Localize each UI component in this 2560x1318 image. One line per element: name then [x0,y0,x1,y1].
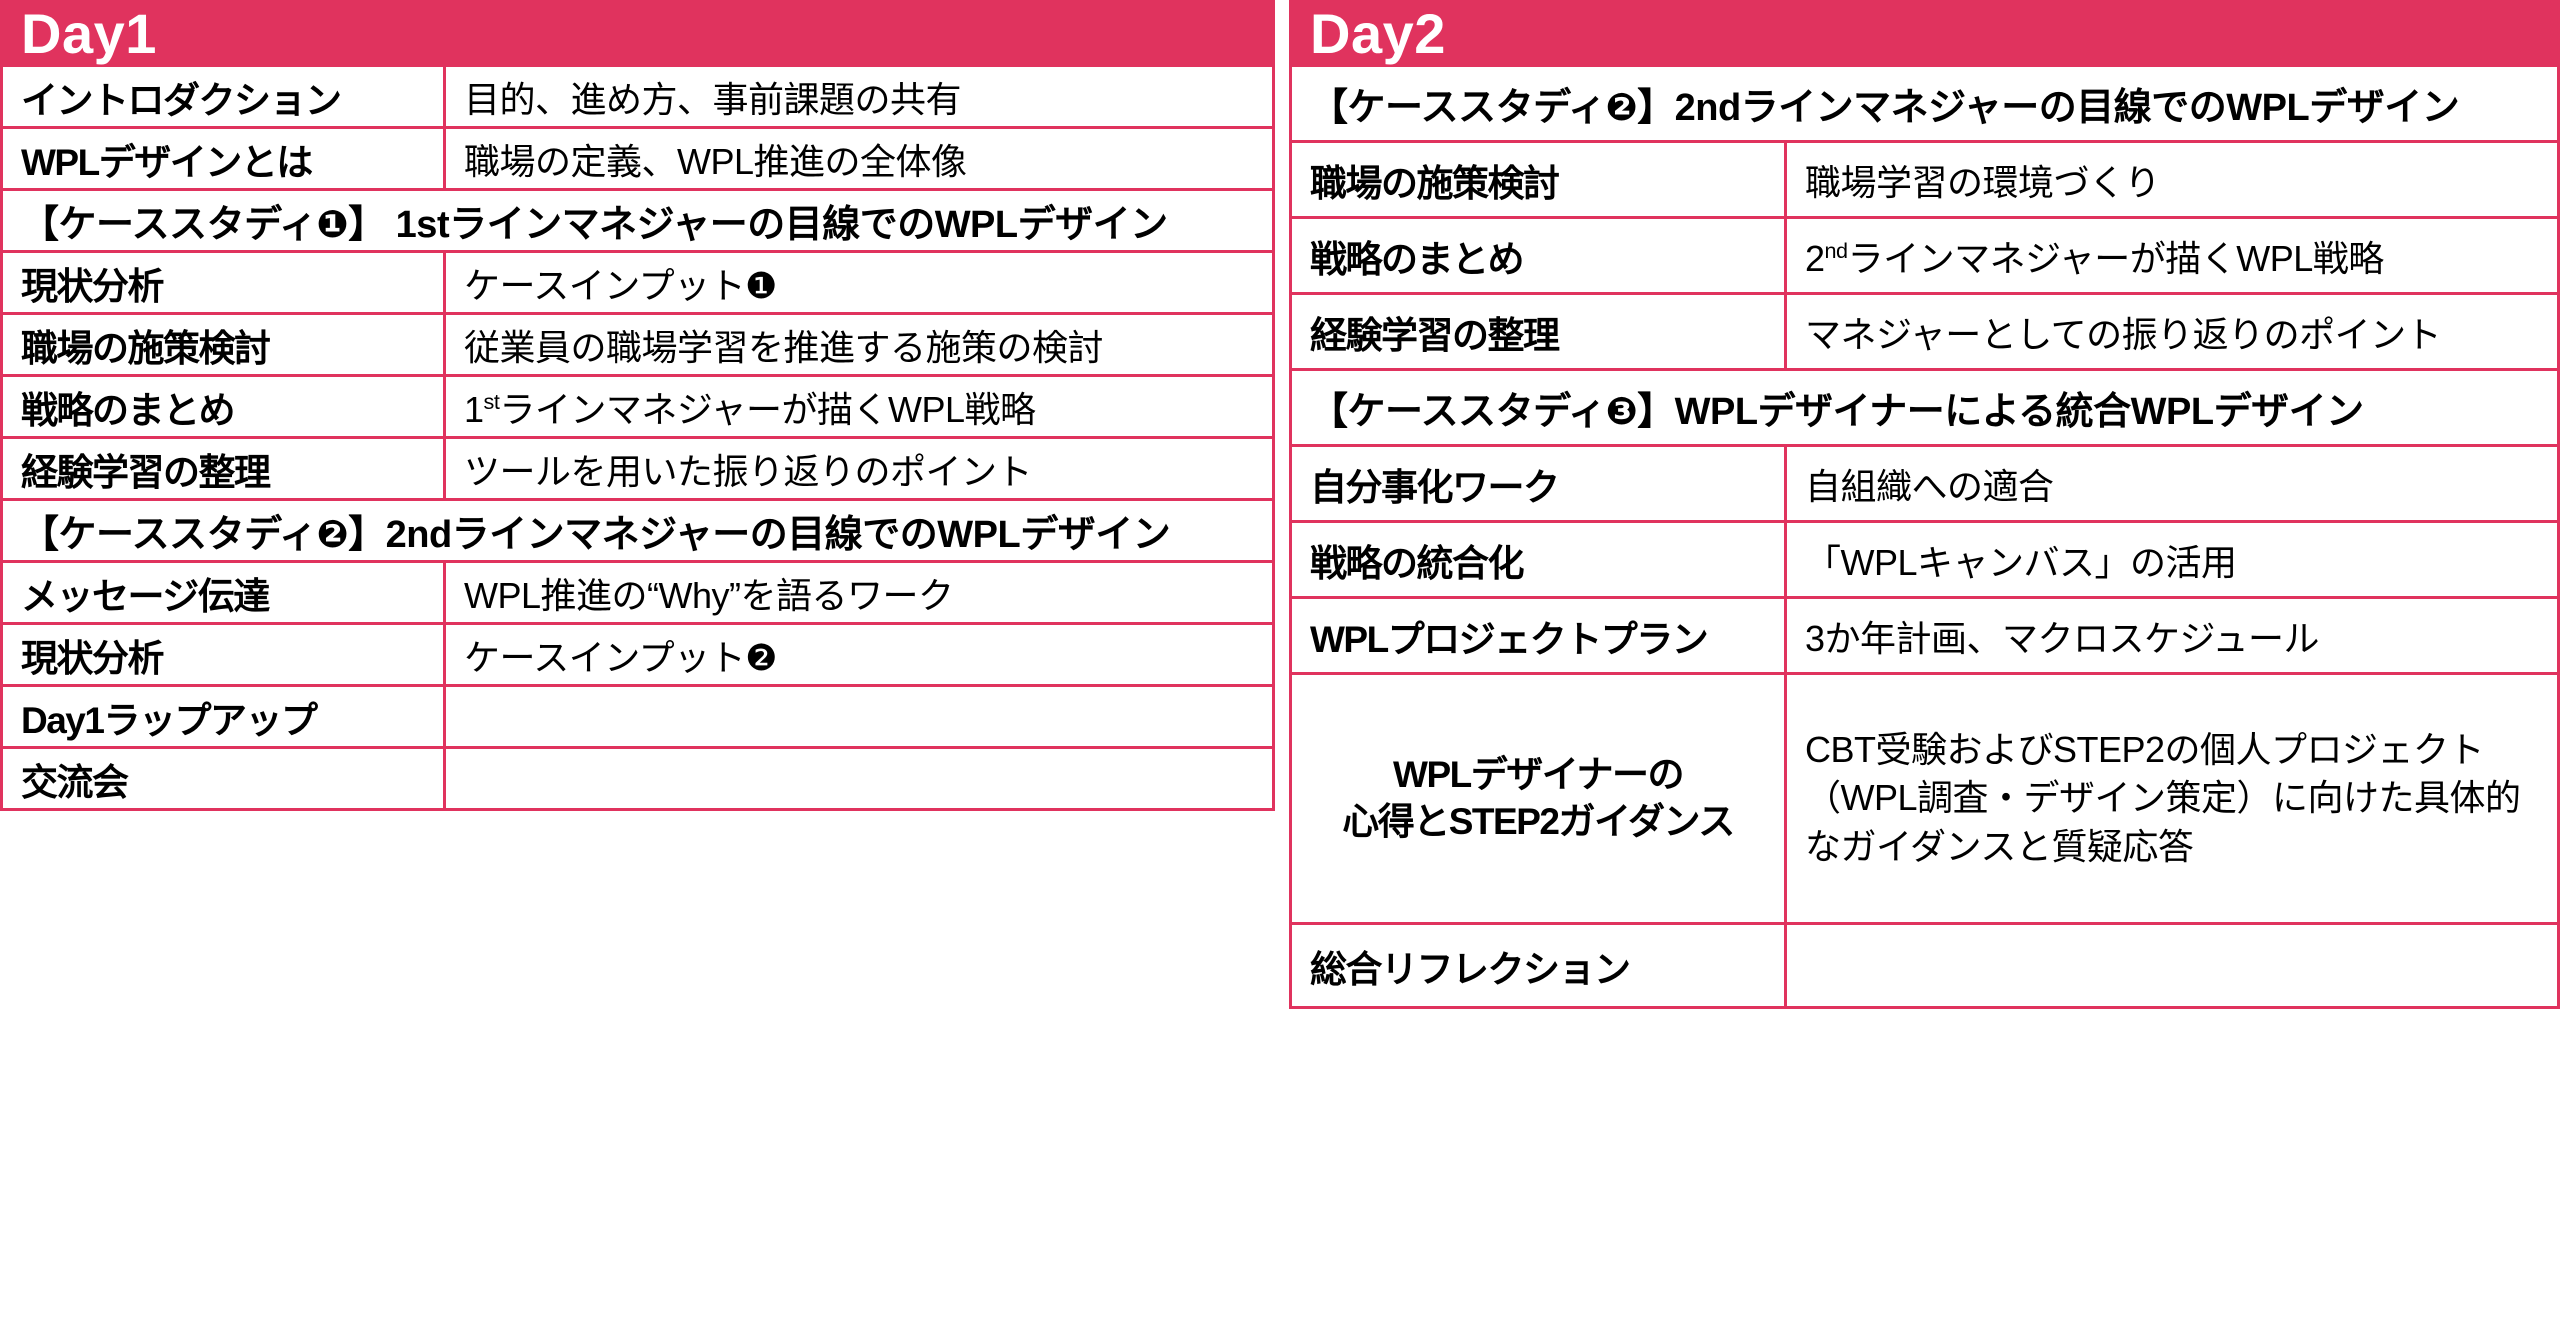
row-topic: WPLデザインとは [2,128,445,190]
table-row: WPLデザイナーの心得とSTEP2ガイダンス CBT受験およびSTEP2の個人プ… [1291,674,2559,924]
table-row: WPLデザインとは 職場の定義、WPL推進の全体像 [2,128,1274,190]
row-desc: WPL推進の“Why”を語るワーク [445,562,1274,624]
table-row: イントロダクション 目的、進め方、事前課題の共有 [2,66,1274,128]
row-topic-line2: 心得とSTEP2ガイダンス [1342,801,1734,842]
day2-schedule-table: Day2 【ケーススタディ❷】2ndラインマネジャーの目線でのWPLデザイン 職… [1289,0,2560,1009]
table-row: メッセージ伝達 WPL推進の“Why”を語るワーク [2,562,1274,624]
section-label: 【ケーススタディ❷】2ndラインマネジャーの目線でのWPLデザイン [1291,66,2559,142]
row-topic: メッセージ伝達 [2,562,445,624]
section-label: 【ケーススタディ❸】WPLデザイナーによる統合WPLデザイン [1291,370,2559,446]
table-row: 経験学習の整理 ツールを用いた振り返りのポイント [2,438,1274,500]
row-desc: 2ndラインマネジャーが描くWPL戦略 [1786,218,2559,294]
row-desc: ツールを用いた振り返りのポイント [445,438,1274,500]
day2-header-row: Day2 [1291,2,2559,66]
row-desc: 自組織への適合 [1786,446,2559,522]
table-row: 戦略のまとめ 1stラインマネジャーが描くWPL戦略 [2,376,1274,438]
row-desc-prefix: 1 [464,389,484,430]
section-label: 【ケーススタディ❶】 1stラインマネジャーの目線でのWPLデザイン [2,190,1274,252]
table-row: 職場の施策検討 職場学習の環境づくり [1291,142,2559,218]
table-row: 現状分析 ケースインプット❷ [2,624,1274,686]
row-desc: ケースインプット❶ [445,252,1274,314]
row-desc: 「WPLキャンバス」の活用 [1786,522,2559,598]
row-topic: 交流会 [2,748,445,810]
row-topic: 戦略のまとめ [2,376,445,438]
row-topic: WPLプロジェクトプラン [1291,598,1786,674]
table-row: 戦略のまとめ 2ndラインマネジャーが描くWPL戦略 [1291,218,2559,294]
day1-title: Day1 [2,2,1274,66]
row-desc [445,686,1274,748]
row-desc-superscript: st [484,389,500,414]
section-label: 【ケーススタディ❷】2ndラインマネジャーの目線でのWPLデザイン [2,500,1274,562]
day2-title: Day2 [1291,2,2559,66]
table-row: 職場の施策検討 従業員の職場学習を推進する施策の検討 [2,314,1274,376]
table-row: 自分事化ワーク 自組織への適合 [1291,446,2559,522]
table-row: 総合リフレクション [1291,924,2559,1008]
table-row: 現状分析 ケースインプット❶ [2,252,1274,314]
row-topic: 職場の施策検討 [1291,142,1786,218]
row-topic: 経験学習の整理 [1291,294,1786,370]
day1-header-row: Day1 [2,2,1274,66]
row-desc: 目的、進め方、事前課題の共有 [445,66,1274,128]
row-topic: Day1ラップアップ [2,686,445,748]
table-row: 経験学習の整理 マネジャーとしての振り返りのポイント [1291,294,2559,370]
row-desc: 1stラインマネジャーが描くWPL戦略 [445,376,1274,438]
row-topic: 職場の施策検討 [2,314,445,376]
row-desc: 職場の定義、WPL推進の全体像 [445,128,1274,190]
row-desc-superscript: nd [1825,238,1848,263]
row-topic: イントロダクション [2,66,445,128]
row-desc-rest: ラインマネジャーが描くWPL戦略 [1848,238,2384,279]
row-desc [1786,924,2559,1008]
table-row-section: 【ケーススタディ❶】 1stラインマネジャーの目線でのWPLデザイン [2,190,1274,252]
row-desc: 職場学習の環境づくり [1786,142,2559,218]
table-row-section: 【ケーススタディ❷】2ndラインマネジャーの目線でのWPLデザイン [1291,66,2559,142]
row-topic: 戦略のまとめ [1291,218,1786,294]
row-topic: 現状分析 [2,624,445,686]
table-row: WPLプロジェクトプラン 3か年計画、マクロスケジュール [1291,598,2559,674]
row-topic: 総合リフレクション [1291,924,1786,1008]
table-row: Day1ラップアップ [2,686,1274,748]
row-topic: 経験学習の整理 [2,438,445,500]
table-row: 交流会 [2,748,1274,810]
row-desc: 従業員の職場学習を推進する施策の検討 [445,314,1274,376]
row-topic: 自分事化ワーク [1291,446,1786,522]
row-desc: CBT受験およびSTEP2の個人プロジェクト（WPL調査・デザイン策定）に向けた… [1786,674,2559,924]
table-row-section: 【ケーススタディ❷】2ndラインマネジャーの目線でのWPLデザイン [2,500,1274,562]
row-topic: WPLデザイナーの心得とSTEP2ガイダンス [1291,674,1786,924]
table-row: 戦略の統合化 「WPLキャンバス」の活用 [1291,522,2559,598]
row-topic: 現状分析 [2,252,445,314]
row-desc-prefix: 2 [1805,238,1825,279]
row-desc-rest: ラインマネジャーが描くWPL戦略 [499,389,1035,430]
row-desc: 3か年計画、マクロスケジュール [1786,598,2559,674]
row-desc: マネジャーとしての振り返りのポイント [1786,294,2559,370]
row-desc: ケースインプット❷ [445,624,1274,686]
row-topic: 戦略の統合化 [1291,522,1786,598]
table-row-section: 【ケーススタディ❸】WPLデザイナーによる統合WPLデザイン [1291,370,2559,446]
day1-schedule-table: Day1 イントロダクション 目的、進め方、事前課題の共有 WPLデザインとは … [0,0,1275,811]
row-topic-line1: WPLデザイナーの [1393,754,1683,795]
row-desc [445,748,1274,810]
schedule-page: Day1 イントロダクション 目的、進め方、事前課題の共有 WPLデザインとは … [0,0,2560,1318]
